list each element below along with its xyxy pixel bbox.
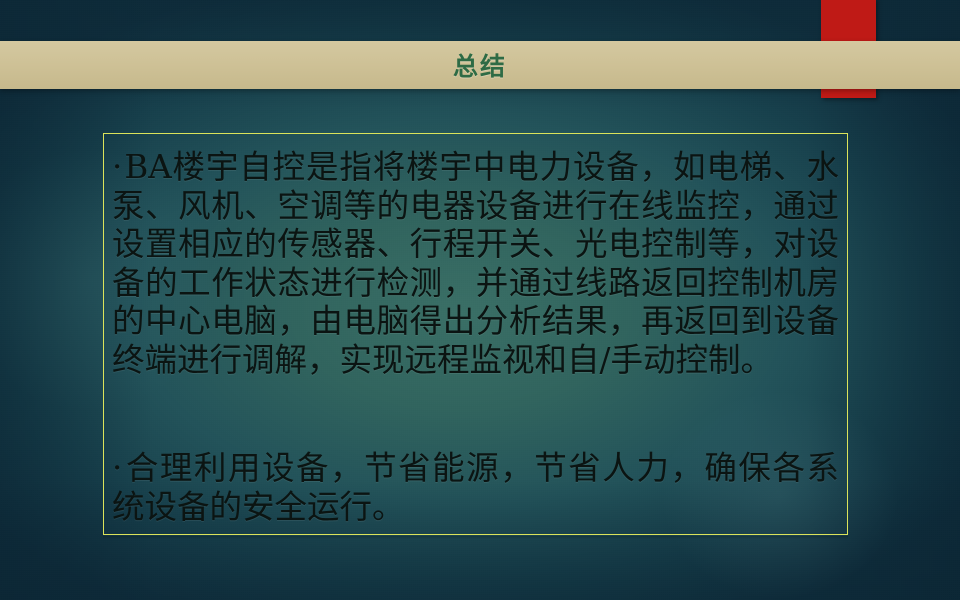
- bullet-paragraph-2: ·合理利用设备，节省能源，节省人力，确保各系统设备的安全运行。: [112, 449, 839, 526]
- content-box-shadow: [103, 536, 848, 539]
- bullet-paragraph-1-text: BA楼宇自控是指将楼宇中电力设备，如电梯、水泵、风机、空调等的电器设备进行在线监…: [112, 148, 839, 379]
- page-title: 总结: [0, 41, 960, 89]
- bullet-marker-icon: ·: [112, 148, 124, 186]
- title-band: 总结: [0, 41, 960, 89]
- content-area: ·BA楼宇自控是指将楼宇中电力设备，如电梯、水泵、风机、空调等的电器设备进行在线…: [104, 134, 847, 534]
- bullet-paragraph-2-text: 合理利用设备，节省能源，节省人力，确保各系统设备的安全运行。: [112, 449, 839, 526]
- slide-canvas: 总结 ·BA楼宇自控是指将楼宇中电力设备，如电梯、水泵、风机、空调等的电器设备进…: [0, 0, 960, 600]
- bullet-paragraph-1: ·BA楼宇自控是指将楼宇中电力设备，如电梯、水泵、风机、空调等的电器设备进行在线…: [112, 148, 839, 379]
- content-border-box: ·BA楼宇自控是指将楼宇中电力设备，如电梯、水泵、风机、空调等的电器设备进行在线…: [103, 133, 848, 535]
- bullet-marker-icon: ·: [112, 449, 124, 487]
